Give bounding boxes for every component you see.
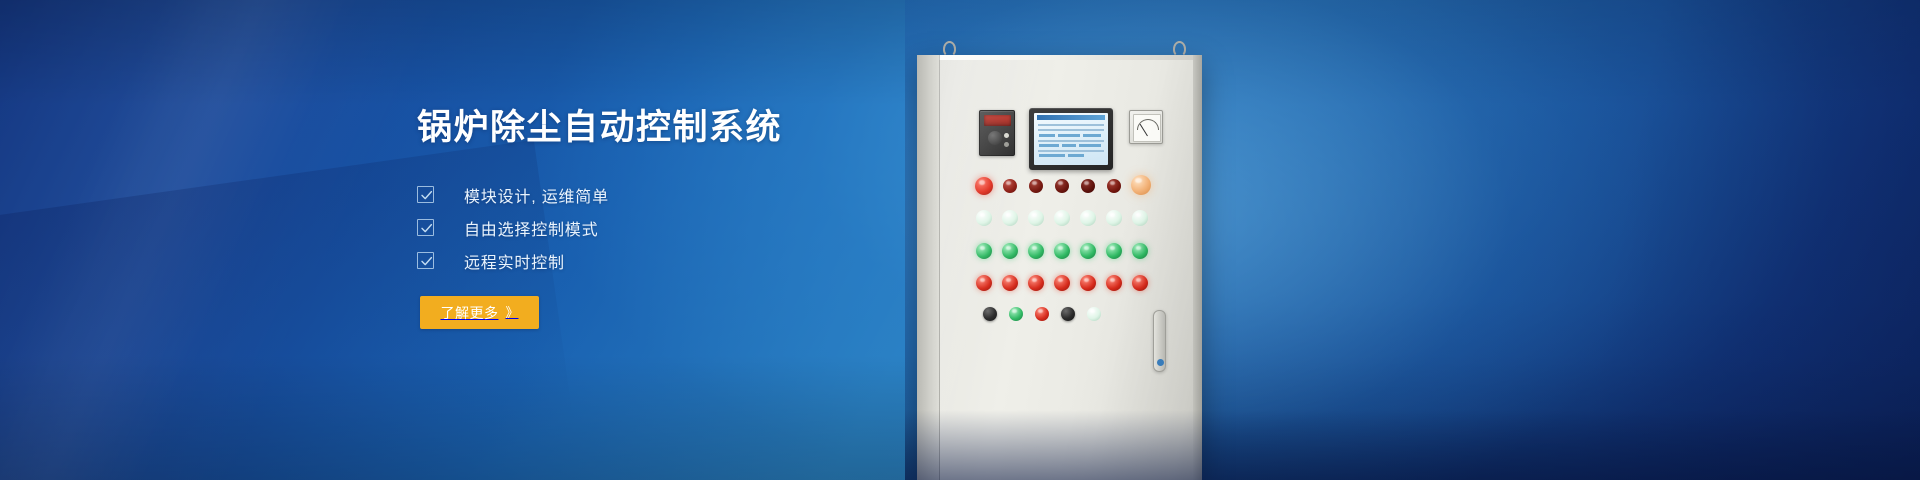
indicator-lamp: [1106, 243, 1122, 259]
feature-label: 自由选择控制模式: [464, 216, 598, 240]
cabinet-top-edge: [917, 55, 1202, 60]
gauge-face: [1133, 114, 1161, 142]
indicator-lamp: [975, 177, 993, 195]
hmi-touchscreen: [1029, 108, 1113, 170]
floor-shadow: [905, 410, 1920, 480]
feature-item: 远程实时控制: [417, 244, 609, 277]
controller-knob: [988, 131, 1002, 145]
indicator-lamp: [1028, 243, 1044, 259]
hmi-cell: [1062, 144, 1076, 147]
door-handle: [1153, 310, 1166, 372]
hmi-line: [1038, 124, 1104, 126]
push-button: [983, 307, 997, 321]
check-square-icon: [417, 252, 434, 269]
controller-indicator: [1004, 133, 1009, 138]
hmi-titlebar: [1037, 115, 1105, 120]
hmi-cell: [1058, 134, 1080, 137]
indicator-lamp: [1080, 275, 1096, 291]
indicator-lamp: [1106, 210, 1122, 226]
check-square-icon: [417, 219, 434, 236]
indicator-lamp: [1055, 179, 1069, 193]
controller-display: [984, 115, 1011, 126]
analog-gauge: [1129, 110, 1163, 144]
indicator-lamp: [1080, 210, 1096, 226]
indicator-lamp: [1131, 175, 1151, 195]
learn-more-button[interactable]: 了解更多 》: [420, 296, 539, 329]
indicator-lamp: [1028, 275, 1044, 291]
indicator-lamp: [1002, 210, 1018, 226]
indicator-lamp: [1132, 210, 1148, 226]
indicator-lamp: [1106, 275, 1122, 291]
push-button: [1061, 307, 1075, 321]
indicator-lamp: [1132, 243, 1148, 259]
indicator-lamp: [976, 243, 992, 259]
indicator-lamp: [1029, 179, 1043, 193]
banner-content: 锅炉除尘自动控制系统 模块设计, 运维简单 自由选择控制模式: [0, 0, 900, 480]
page-title: 锅炉除尘自动控制系统: [417, 107, 782, 149]
indicator-lamp: [1080, 243, 1096, 259]
push-button: [1035, 307, 1049, 321]
learn-more-label: 了解更多: [440, 303, 498, 323]
indicator-lamp: [976, 210, 992, 226]
hmi-cell: [1083, 134, 1101, 137]
chevron-right-icon: 》: [505, 306, 518, 319]
hero-banner: 锅炉除尘自动控制系统 模块设计, 运维简单 自由选择控制模式: [0, 0, 1920, 480]
hmi-cell: [1068, 154, 1084, 157]
feature-item: 模块设计, 运维简单: [417, 178, 609, 211]
indicator-lamp: [1107, 179, 1121, 193]
indicator-lamp: [1002, 243, 1018, 259]
indicator-lamp: [1054, 275, 1070, 291]
lock-icon: [1157, 359, 1164, 366]
hmi-line: [1038, 150, 1104, 152]
feature-label: 模块设计, 运维简单: [464, 183, 609, 207]
indicator-lamp: [1002, 275, 1018, 291]
hmi-screen: [1034, 113, 1108, 165]
controller-indicator: [1004, 142, 1009, 147]
feature-label: 远程实时控制: [464, 249, 565, 273]
indicator-lamp: [976, 275, 992, 291]
hmi-cell: [1039, 144, 1059, 147]
indicator-lamp: [1081, 179, 1095, 193]
push-button: [1087, 307, 1101, 321]
feature-item: 自由选择控制模式: [417, 211, 609, 244]
indicator-lamp: [1028, 210, 1044, 226]
indicator-lamp: [1132, 275, 1148, 291]
feature-list: 模块设计, 运维简单 自由选择控制模式 远程实时控制: [417, 178, 609, 277]
indicator-lamp: [1003, 179, 1017, 193]
vfd-controller: [979, 110, 1015, 156]
hmi-line: [1038, 129, 1104, 131]
push-button: [1009, 307, 1023, 321]
hmi-cell: [1039, 134, 1055, 137]
hmi-line: [1038, 140, 1104, 142]
check-square-icon: [417, 186, 434, 203]
indicator-lamp: [1054, 243, 1070, 259]
product-photo: [905, 0, 1920, 480]
hmi-cell: [1039, 154, 1065, 157]
hmi-cell: [1079, 144, 1101, 147]
indicator-lamp: [1054, 210, 1070, 226]
